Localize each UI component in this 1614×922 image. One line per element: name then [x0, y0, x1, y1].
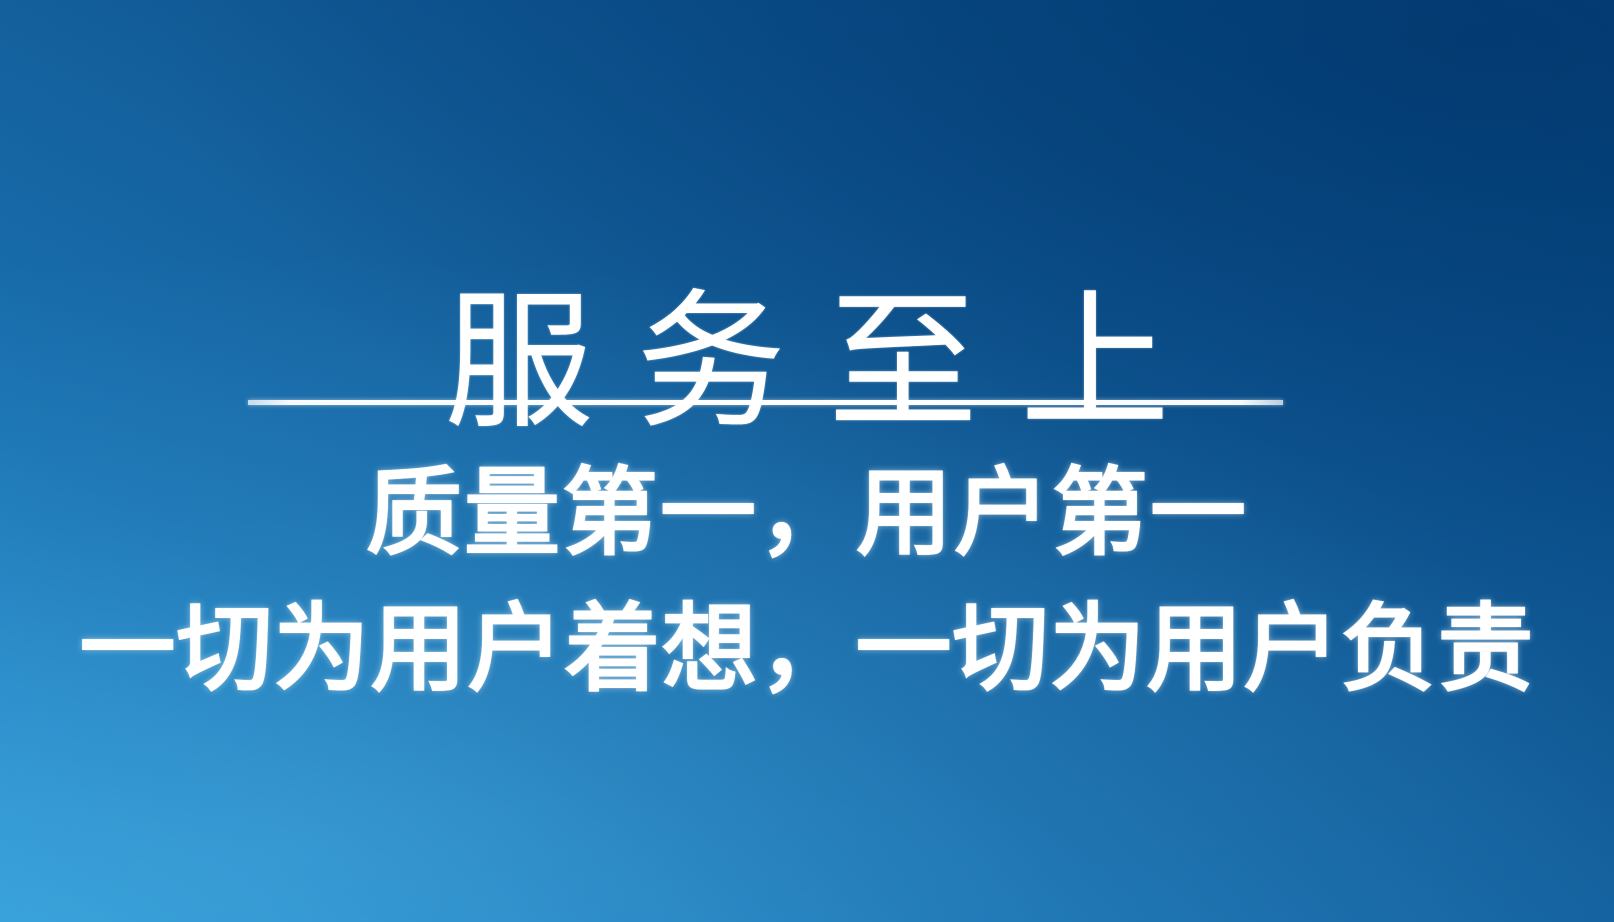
poster-content: 服务至上 质量第一，用户第一 一切为用户着想，一切为用户负责 [0, 0, 1614, 922]
slogan-block: 质量第一，用户第一 一切为用户着想，一切为用户负责 [0, 455, 1614, 709]
page-title: 服务至上 [0, 287, 1614, 437]
slogan-line-2: 一切为用户着想，一切为用户负责 [0, 591, 1614, 709]
title-divider [248, 398, 1283, 407]
divider-line [248, 400, 1283, 405]
slogan-line-1: 质量第一，用户第一 [0, 455, 1614, 573]
service-slogan-poster: 服务至上 质量第一，用户第一 一切为用户着想，一切为用户负责 [0, 0, 1614, 922]
